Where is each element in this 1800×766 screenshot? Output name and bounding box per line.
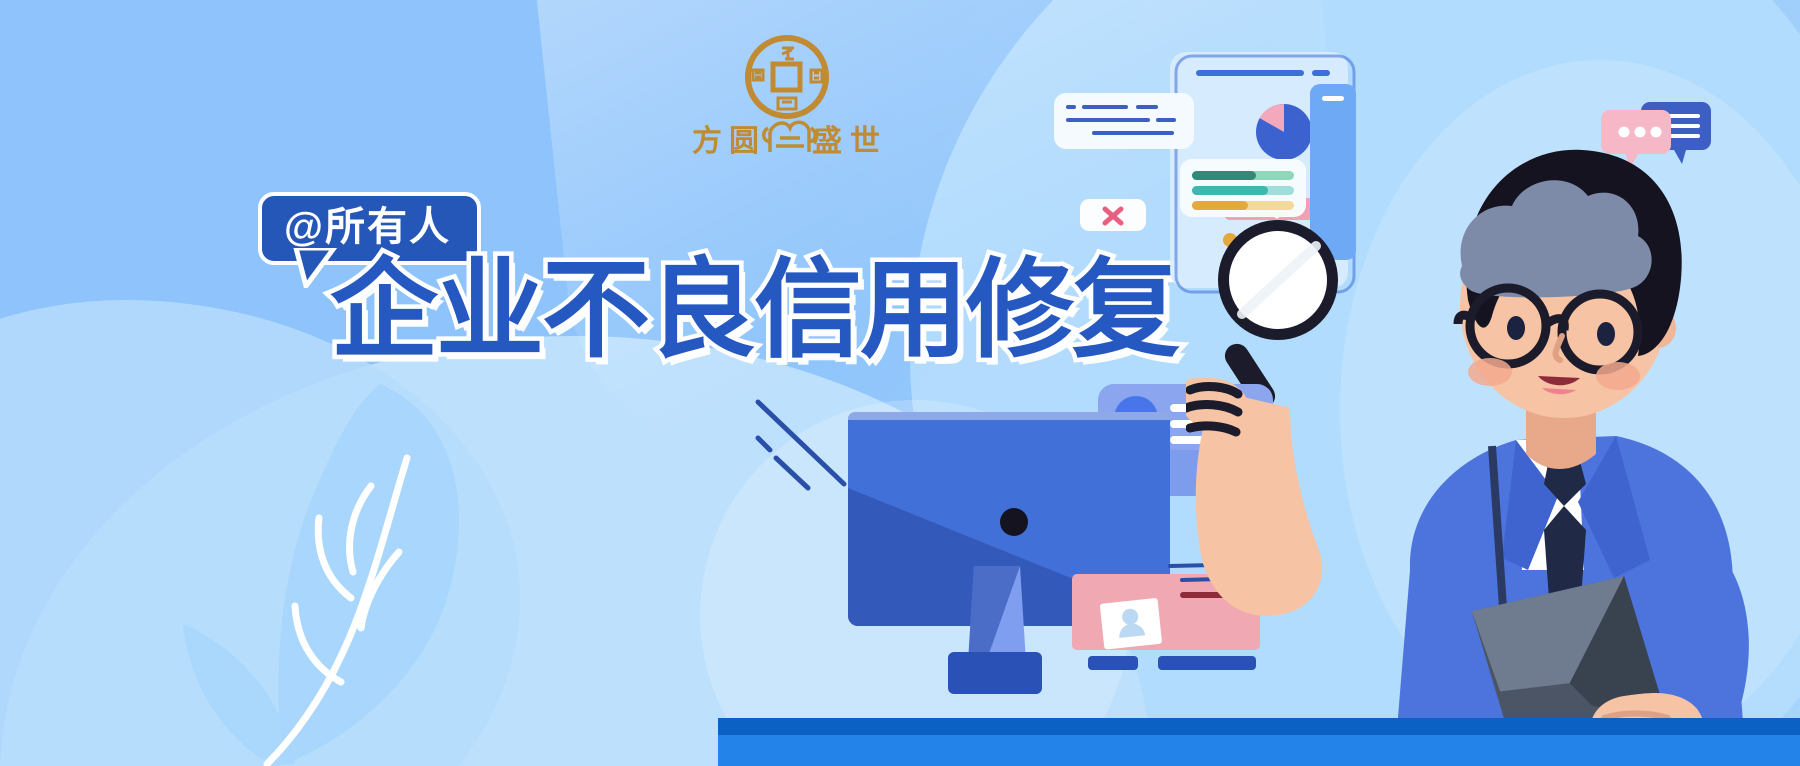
logo-char-3: 盛	[812, 125, 842, 158]
logo-char-1: 方	[692, 124, 722, 158]
bottom-accent-bar	[718, 718, 1800, 766]
brand-logo: 方 圆 盛 世	[690, 34, 885, 159]
decorative-leaf-icon	[175, 366, 505, 766]
logo-char-2: 圆	[729, 125, 759, 158]
promo-banner: 方 圆 盛 世 @所有人 企业不良信用修复	[0, 0, 1800, 766]
bottom-bar-light	[718, 735, 1800, 766]
bottom-bar-dark	[718, 718, 1800, 735]
businessman-illustration	[1186, 140, 1800, 766]
logo-char-4: 世	[850, 125, 880, 158]
